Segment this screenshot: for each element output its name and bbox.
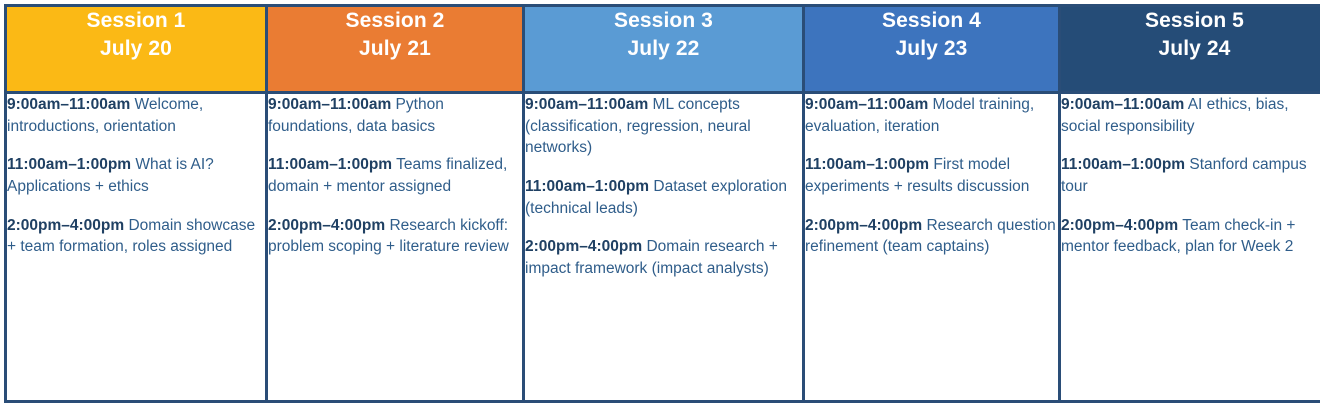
slot-time-range: 2:00pm–4:00pm [1061,217,1178,234]
session-title: Session 1 [7,7,265,35]
slot-time-range: 11:00am–1:00pm [525,178,649,195]
slot-time-range: 2:00pm–4:00pm [7,217,124,234]
agenda-slot: 2:00pm–4:00pm Team check-in + mentor fee… [1061,215,1320,258]
session-title: Session 3 [525,7,802,35]
agenda-slot: 11:00am–1:00pm Teams finalized, domain +… [268,154,522,197]
slot-time-range: 9:00am–11:00am [525,96,648,113]
session-date: July 20 [7,35,265,63]
column-header-session-2: Session 2 July 21 [267,6,524,93]
agenda-slot: 2:00pm–4:00pm Research question refineme… [805,215,1058,258]
agenda-slot: 9:00am–11:00am Model training, evaluatio… [805,94,1058,137]
slot-time-range: 2:00pm–4:00pm [268,217,385,234]
column-header-session-5: Session 5 July 24 [1060,6,1320,93]
slot-time-range: 9:00am–11:00am [268,96,391,113]
session-4-agenda-cell: 9:00am–11:00am Model training, evaluatio… [804,93,1060,402]
session-schedule-table: Session 1 July 20 Session 2 July 21 Sess… [4,4,1320,403]
session-date: July 24 [1061,35,1320,63]
agenda-slot: 9:00am–11:00am AI ethics, bias, social r… [1061,94,1320,137]
session-3-agenda-cell: 9:00am–11:00am ML concepts (classificati… [524,93,804,402]
table-body-row: 9:00am–11:00am Welcome, introductions, o… [6,93,1320,402]
slot-time-range: 9:00am–11:00am [1061,96,1184,113]
agenda-slot: 11:00am–1:00pm What is AI? Applications … [7,154,265,197]
slot-time-range: 11:00am–1:00pm [7,156,131,173]
session-date: July 21 [268,35,522,63]
session-1-agenda-cell: 9:00am–11:00am Welcome, introductions, o… [6,93,267,402]
table-header-row: Session 1 July 20 Session 2 July 21 Sess… [6,6,1320,93]
agenda-slot: 9:00am–11:00am ML concepts (classificati… [525,94,802,159]
session-title: Session 4 [805,7,1058,35]
agenda-slot: 2:00pm–4:00pm Research kickoff: problem … [268,215,522,258]
agenda-slot: 9:00am–11:00am Python foundations, data … [268,94,522,137]
session-date: July 23 [805,35,1058,63]
column-header-session-4: Session 4 July 23 [804,6,1060,93]
slot-time-range: 2:00pm–4:00pm [805,217,922,234]
session-title: Session 2 [268,7,522,35]
agenda-slot: 2:00pm–4:00pm Domain showcase + team for… [7,215,265,258]
session-5-agenda-cell: 9:00am–11:00am AI ethics, bias, social r… [1060,93,1320,402]
session-title: Session 5 [1061,7,1320,35]
slot-time-range: 2:00pm–4:00pm [525,238,642,255]
session-2-agenda-cell: 9:00am–11:00am Python foundations, data … [267,93,524,402]
column-header-session-3: Session 3 July 22 [524,6,804,93]
agenda-slot: 2:00pm–4:00pm Domain research + impact f… [525,236,802,279]
slot-time-range: 11:00am–1:00pm [268,156,392,173]
slot-time-range: 9:00am–11:00am [7,96,130,113]
agenda-slot: 9:00am–11:00am Welcome, introductions, o… [7,94,265,137]
agenda-slot: 11:00am–1:00pm Dataset exploration (tech… [525,176,802,219]
slot-time-range: 11:00am–1:00pm [805,156,929,173]
slot-time-range: 9:00am–11:00am [805,96,928,113]
agenda-slot: 11:00am–1:00pm First model experiments +… [805,154,1058,197]
session-date: July 22 [525,35,802,63]
slot-time-range: 11:00am–1:00pm [1061,156,1185,173]
agenda-slot: 11:00am–1:00pm Stanford campus tour [1061,154,1320,197]
column-header-session-1: Session 1 July 20 [6,6,267,93]
